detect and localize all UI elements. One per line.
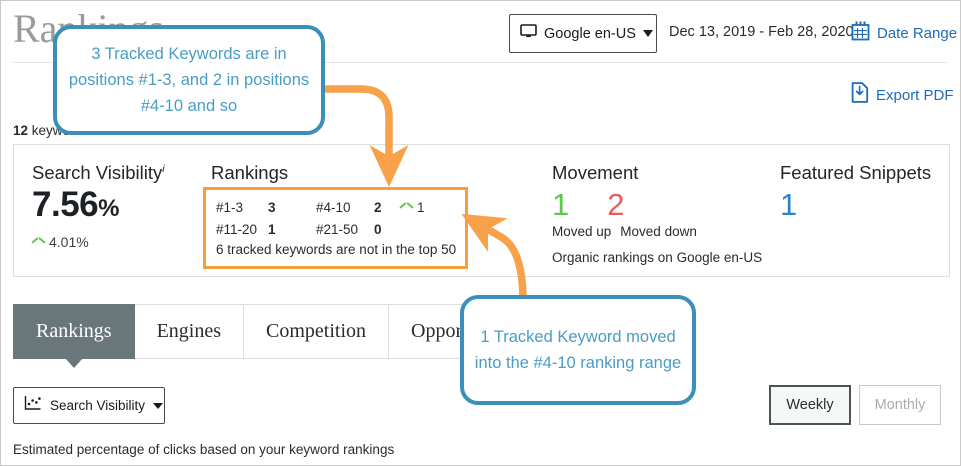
rankings-breakdown-box: #1-3 3 #4-10 2 1 #11-20 1 #21-50 0 6 tra… [203, 187, 468, 269]
engine-select-label: Google en-US [544, 26, 636, 42]
rankings-row: #11-20 1 #21-50 0 [216, 218, 466, 240]
rank-count-b: 2 [374, 200, 400, 215]
period-monthly-button[interactable]: Monthly [859, 385, 941, 425]
rank-count-a: 1 [268, 222, 316, 237]
engine-select-dropdown[interactable]: Google en-US [509, 14, 657, 53]
rank-move-value: 1 [417, 200, 425, 215]
rank-range-b: #4-10 [316, 200, 374, 215]
chevron-down-icon [153, 403, 163, 409]
tab-competition[interactable]: Competition [244, 304, 389, 359]
rank-range-a: #11-20 [216, 222, 268, 237]
metric-select-label: Search Visibility [50, 398, 145, 413]
report-tabs: Rankings Engines Competition Opportuni [13, 304, 516, 359]
annotation-callout-top: 3 Tracked Keywords are in positions #1-3… [53, 25, 325, 135]
annotation-callout-top-text: 3 Tracked Keywords are in positions #1-3… [57, 41, 321, 119]
monitor-icon [520, 24, 537, 44]
movement-heading: Movement [552, 162, 638, 184]
period-toggle: Weekly Monthly [769, 385, 941, 425]
export-pdf-label: Export PDF [876, 87, 954, 104]
rankings-grid: #1-3 3 #4-10 2 1 #11-20 1 #21-50 0 [216, 196, 466, 240]
export-pdf-button[interactable]: Export PDF [851, 82, 954, 108]
metric-select-dropdown[interactable]: Search Visibility [13, 387, 165, 424]
movement-values: 1 2 [552, 188, 625, 222]
info-superscript[interactable]: i [162, 163, 164, 175]
stats-panel: Search Visibilityi 7.56% 4.01% Rankings … [13, 144, 950, 277]
moved-down-label: Moved down [620, 224, 697, 239]
search-visibility-value: 7.56% [32, 185, 119, 225]
movement-labels: Moved up Moved down [552, 224, 697, 239]
date-range-label: Date Range [877, 25, 957, 42]
featured-snippets-value: 1 [780, 188, 797, 222]
chevron-up-icon [32, 238, 45, 247]
rank-range-a: #1-3 [216, 200, 268, 215]
date-range-text: Dec 13, 2019 - Feb 28, 2020 [669, 24, 854, 40]
annotation-callout-bottom: 1 Tracked Keyword moved into the #4-10 r… [460, 295, 696, 405]
annotation-callout-bottom-text: 1 Tracked Keyword moved into the #4-10 r… [464, 324, 692, 376]
chevron-down-icon [643, 30, 653, 37]
tab-rankings[interactable]: Rankings [13, 304, 135, 359]
rank-count-a: 3 [268, 200, 316, 215]
search-visibility-unit: % [98, 195, 119, 222]
search-visibility-heading: Search Visibilityi [32, 162, 165, 184]
period-weekly-button[interactable]: Weekly [769, 385, 851, 425]
moved-up-label: Moved up [552, 224, 611, 239]
rankings-row: #1-3 3 #4-10 2 1 [216, 196, 466, 218]
movement-note: Organic rankings on Google en-US [552, 250, 762, 265]
tab-engines[interactable]: Engines [135, 304, 244, 359]
calendar-icon [851, 21, 870, 46]
search-visibility-label: Search Visibility [32, 162, 162, 183]
moved-up-value: 1 [552, 188, 569, 222]
rank-count-b: 0 [374, 222, 400, 237]
ranking-report-screen: Rankings Google en-US Dec 13, 2019 - Feb… [0, 0, 961, 466]
scatter-chart-icon [24, 395, 42, 416]
search-visibility-delta-value: 4.01% [49, 234, 89, 250]
chevron-up-icon [400, 203, 413, 212]
rankings-heading: Rankings [211, 162, 288, 184]
rank-range-b: #21-50 [316, 222, 374, 237]
rank-move-indicator: 1 [400, 200, 425, 215]
search-visibility-number: 7.56 [32, 185, 98, 224]
featured-snippets-heading: Featured Snippets [780, 162, 931, 184]
moved-down-value: 2 [607, 188, 624, 222]
rankings-note: 6 tracked keywords are not in the top 50 [216, 242, 456, 257]
date-range-button[interactable]: Date Range [851, 21, 957, 46]
export-pdf-icon [851, 82, 869, 108]
chart-footer-note: Estimated percentage of clicks based on … [13, 442, 394, 457]
search-visibility-delta: 4.01% [32, 234, 89, 250]
keyword-count: 12 [13, 123, 28, 138]
